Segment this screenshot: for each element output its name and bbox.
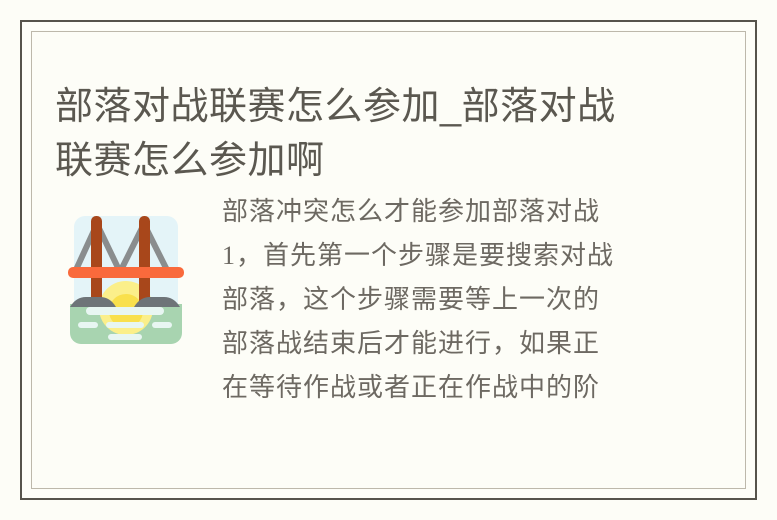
article-card-outer-border: 部落对战联赛怎么参加_部落对战 联赛怎么参加啊 [20, 20, 757, 500]
screenshot-root: 部落对战联赛怎么参加_部落对战 联赛怎么参加啊 [0, 0, 777, 520]
page-title: 部落对战联赛怎么参加_部落对战 联赛怎么参加啊 [55, 80, 695, 188]
tower-right-shape [139, 216, 150, 308]
article-content-block: 部落冲突怎么才能参加部落对战 1，首先第一个步骤是要搜索对战 部落，这个步骤需要… [55, 190, 735, 410]
bridge-deck-shape [68, 267, 184, 278]
tower-left-shape [91, 216, 102, 308]
article-body-text: 部落冲突怎么才能参加部落对战 1，首先第一个步骤是要搜索对战 部落，这个步骤需要… [222, 190, 652, 410]
bridge-sunset-illustration-svg [64, 210, 188, 350]
bridge-sunset-icon [64, 210, 188, 350]
